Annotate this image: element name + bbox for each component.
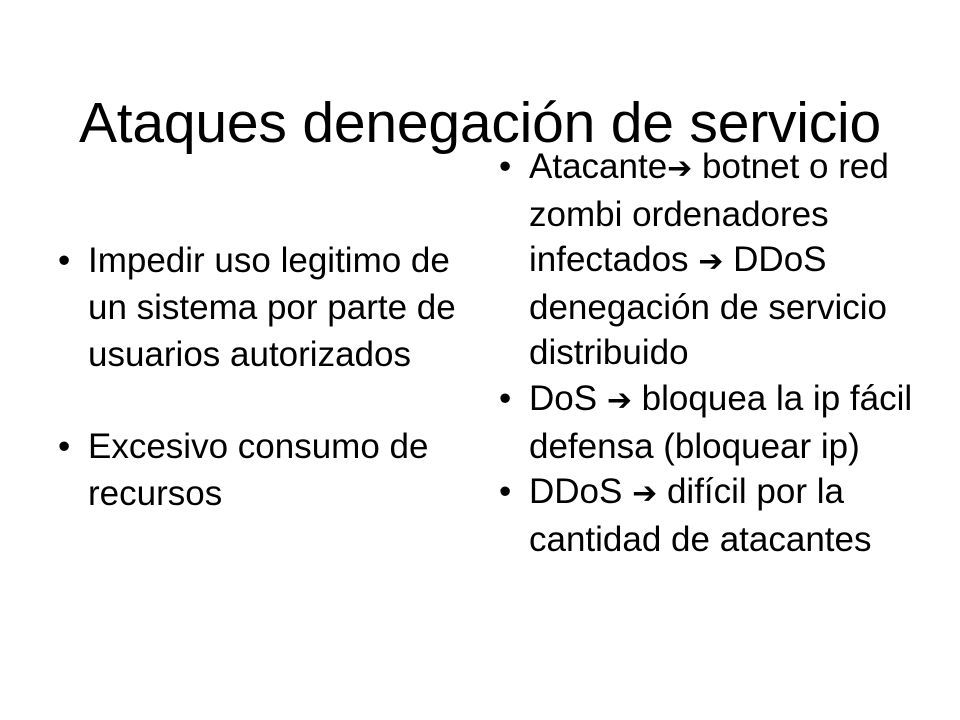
bullet-point-icon: • [58,238,78,285]
arrow-right-icon: ➔ [607,383,632,418]
list-item: • DoS ➔ bloquea la ip fácil defensa (blo… [487,376,931,469]
content-column-left: • Impedir uso legitimo de un sistema por… [46,140,478,518]
arrow-right-icon: ➔ [698,244,723,279]
bullet-list-right: • Atacante➔ botnet o red zombi ordenador… [487,144,931,562]
list-item: • Excesivo consumo de recursos [46,424,478,518]
bullet-list-left: • Impedir uso legitimo de un sistema por… [46,238,478,518]
bullet-point-icon: • [58,424,78,471]
bullet-point-icon: • [499,376,519,423]
arrow-right-icon: ➔ [632,476,657,511]
list-item-text: Impedir uso legitimo de un sistema por p… [88,238,478,378]
list-item: • Atacante➔ botnet o red zombi ordenador… [487,144,931,376]
list-item: • DDoS ➔ difícil por la cantidad de atac… [487,469,931,562]
content-column-right: • Atacante➔ botnet o red zombi ordenador… [487,140,931,562]
list-item-text: DoS ➔ bloquea la ip fácil defensa (bloqu… [529,376,931,469]
list-item-text: Atacante➔ botnet o red zombi ordenadores… [529,144,931,376]
bullet-point-icon: • [499,469,519,516]
slide-canvas: Ataques denegación de servicio • Impedir… [0,0,960,720]
list-item-text: DDoS ➔ difícil por la cantidad de atacan… [529,469,931,562]
list-item: • Impedir uso legitimo de un sistema por… [46,238,478,378]
bullet-point-icon: • [499,144,519,191]
list-item-text: Excesivo consumo de recursos [88,424,478,518]
slide-body: • Impedir uso legitimo de un sistema por… [0,140,960,700]
arrow-right-icon: ➔ [667,151,692,186]
